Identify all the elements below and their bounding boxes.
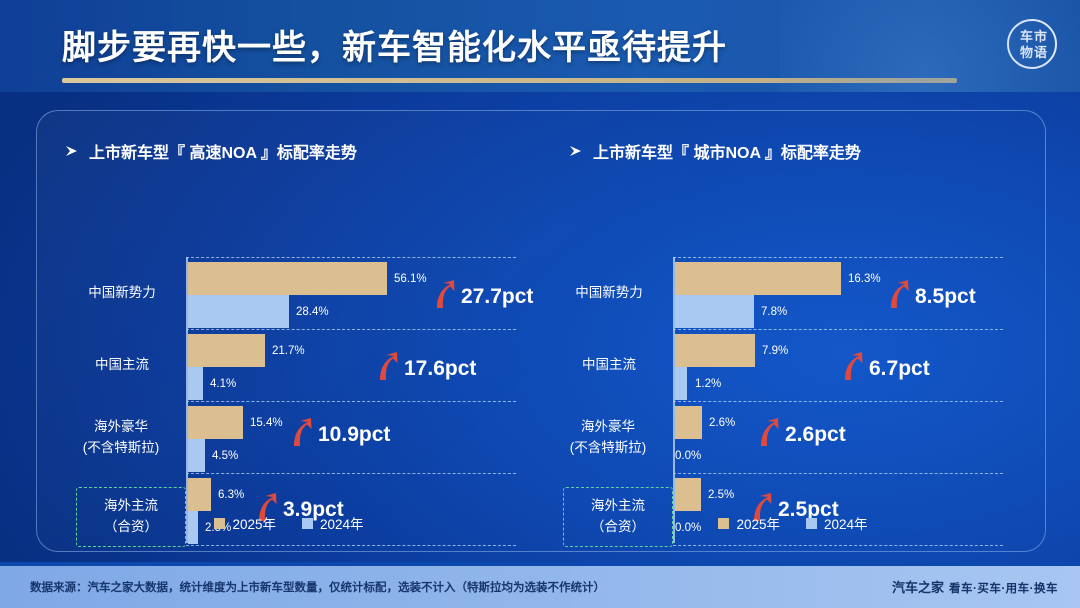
- category-label-2: 海外豪华 (不含特斯拉): [57, 417, 185, 459]
- chevron-right-icon: [65, 144, 80, 156]
- delta-value-2: 2.6pct: [785, 424, 846, 445]
- legend-item-2025: 2025年: [718, 513, 780, 533]
- legend-swatch-icon: [302, 518, 313, 529]
- panel-urban-noa: 上市新车型『 城市NOA 』标配率走势 中国新势力 16.3% 7.8%: [541, 111, 1045, 551]
- group-separator: [186, 401, 516, 402]
- legend-item-2024: 2024年: [302, 513, 364, 533]
- group-separator: [186, 545, 516, 546]
- title-underline-rule: [62, 78, 957, 83]
- bar-value-2025-3: 2.5%: [708, 490, 734, 502]
- svg-text:市: 市: [1034, 29, 1047, 44]
- trend-up-arrow-icon-0: [430, 280, 458, 310]
- category-label-0: 中国新势力: [554, 283, 664, 304]
- circular-seal-logo-icon: 车 市 物 语: [1005, 17, 1059, 71]
- bar-2024-0: [188, 295, 289, 328]
- category-line: (不含特斯拉): [83, 440, 160, 455]
- legend-item-2024: 2024年: [806, 513, 868, 533]
- legend-swatch-icon: [214, 518, 225, 529]
- panel-title-text: 上市新车型『 高速NOA 』标配率走势: [89, 145, 357, 162]
- group-separator: [186, 329, 516, 330]
- brand-slogan: 看车·买车·用车·换车: [949, 583, 1058, 595]
- category-label-0: 中国新势力: [67, 283, 177, 304]
- bar-2024-1: [675, 367, 687, 400]
- category-label-2: 海外豪华 (不含特斯拉): [544, 417, 672, 459]
- legend-label: 2025年: [736, 513, 780, 533]
- svg-text:语: 语: [1034, 45, 1047, 60]
- bar-value-2025-2: 15.4%: [250, 418, 283, 430]
- bar-2025-1: [188, 334, 265, 367]
- category-line: 中国新势力: [88, 285, 156, 300]
- legend-label: 2025年: [232, 513, 276, 533]
- delta-value-0: 27.7pct: [461, 286, 533, 307]
- trend-up-arrow-icon-2: [754, 418, 782, 448]
- bar-value-2025-0: 16.3%: [848, 274, 881, 286]
- slide-footer: 数据来源：汽车之家大数据，统计维度为上市新车型数量，仅统计标配，选装不计入（特斯…: [0, 562, 1080, 608]
- bar-value-2025-3: 6.3%: [218, 490, 244, 502]
- legend-label: 2024年: [320, 513, 364, 533]
- chevron-right-icon: [569, 144, 584, 156]
- legend-label: 2024年: [824, 513, 868, 533]
- bar-2024-2: [188, 439, 205, 472]
- category-line: 海外豪华: [581, 419, 635, 434]
- charts-card: 上市新车型『 高速NOA 』标配率走势 中国新势力 56.1% 28.4%: [36, 110, 1046, 552]
- bar-2025-2: [675, 406, 702, 439]
- panel-title-text: 上市新车型『 城市NOA 』标配率走势: [593, 145, 861, 162]
- category-label-1: 中国主流: [67, 355, 177, 376]
- chart-highway-noa: 中国新势力 56.1% 28.4% 27.7pct 中国主流 2: [37, 173, 541, 503]
- bar-value-2025-2: 2.6%: [709, 418, 735, 430]
- legend-swatch-icon: [718, 518, 729, 529]
- bar-value-2024-1: 4.1%: [210, 379, 236, 391]
- group-separator: [673, 545, 1003, 546]
- svg-text:车: 车: [1020, 29, 1033, 44]
- slide-header: 脚步要再快一些，新车智能化水平亟待提升 车 市 物 语: [0, 0, 1080, 92]
- chart-urban-noa: 中国新势力 16.3% 7.8% 8.5pct 中国主流 7.9: [541, 173, 1045, 503]
- group-separator: [186, 473, 516, 474]
- category-line: 中国新势力: [575, 285, 643, 300]
- bar-2025-3: [675, 478, 701, 511]
- category-line: (不含特斯拉): [570, 440, 647, 455]
- delta-value-2: 10.9pct: [318, 424, 390, 445]
- bar-2025-1: [675, 334, 755, 367]
- legend-item-2025: 2025年: [214, 513, 276, 533]
- group-separator: [673, 257, 1003, 258]
- category-line: 海外豪华: [94, 419, 148, 434]
- category-label-1: 中国主流: [554, 355, 664, 376]
- panel-highway-noa: 上市新车型『 高速NOA 』标配率走势 中国新势力 56.1% 28.4%: [37, 111, 541, 551]
- group-separator: [673, 329, 1003, 330]
- trend-up-arrow-icon-2: [287, 418, 315, 448]
- trend-up-arrow-icon-1: [373, 352, 401, 382]
- group-separator: [673, 401, 1003, 402]
- brand-name: 汽车之家: [892, 580, 944, 595]
- panel-title-urban-noa: 上市新车型『 城市NOA 』标配率走势: [569, 139, 861, 163]
- legend-swatch-icon: [806, 518, 817, 529]
- svg-text:物: 物: [1020, 45, 1033, 60]
- group-separator: [186, 257, 516, 258]
- trend-up-arrow-icon-1: [838, 352, 866, 382]
- bar-value-2025-1: 21.7%: [272, 346, 305, 358]
- bar-value-2024-1: 1.2%: [695, 379, 721, 391]
- bar-value-2025-0: 56.1%: [394, 274, 427, 286]
- group-separator: [673, 473, 1003, 474]
- delta-value-1: 6.7pct: [869, 358, 930, 379]
- category-line: 海外主流: [104, 498, 158, 513]
- delta-value-0: 8.5pct: [915, 286, 976, 307]
- data-source-note: 数据来源：汽车之家大数据，统计维度为上市新车型数量，仅统计标配，选装不计入（特斯…: [30, 579, 605, 595]
- bar-2025-2: [188, 406, 243, 439]
- brand-footer: 汽车之家看车·买车·用车·换车: [892, 577, 1058, 596]
- delta-value-1: 17.6pct: [404, 358, 476, 379]
- bar-value-2024-0: 7.8%: [761, 307, 787, 319]
- page-title: 脚步要再快一些，新车智能化水平亟待提升: [62, 20, 727, 69]
- bar-2025-0: [675, 262, 841, 295]
- bar-value-2024-2: 0.0%: [675, 451, 701, 463]
- category-line: 海外主流: [591, 498, 645, 513]
- bar-2025-3: [188, 478, 211, 511]
- legend-highway-noa: 2025年 2024年: [37, 513, 541, 533]
- bar-2024-0: [675, 295, 754, 328]
- bar-value-2024-2: 4.5%: [212, 451, 238, 463]
- bar-value-2025-1: 7.9%: [762, 346, 788, 358]
- trend-up-arrow-icon-0: [884, 280, 912, 310]
- category-line: 中国主流: [582, 357, 636, 372]
- bar-2025-0: [188, 262, 387, 295]
- legend-urban-noa: 2025年 2024年: [541, 513, 1045, 533]
- panel-title-highway-noa: 上市新车型『 高速NOA 』标配率走势: [65, 139, 357, 163]
- slide-page: 脚步要再快一些，新车智能化水平亟待提升 车 市 物 语 上市新车型『 高速NOA…: [0, 0, 1080, 608]
- category-line: 中国主流: [95, 357, 149, 372]
- bar-2024-1: [188, 367, 203, 400]
- bar-value-2024-0: 28.4%: [296, 307, 329, 319]
